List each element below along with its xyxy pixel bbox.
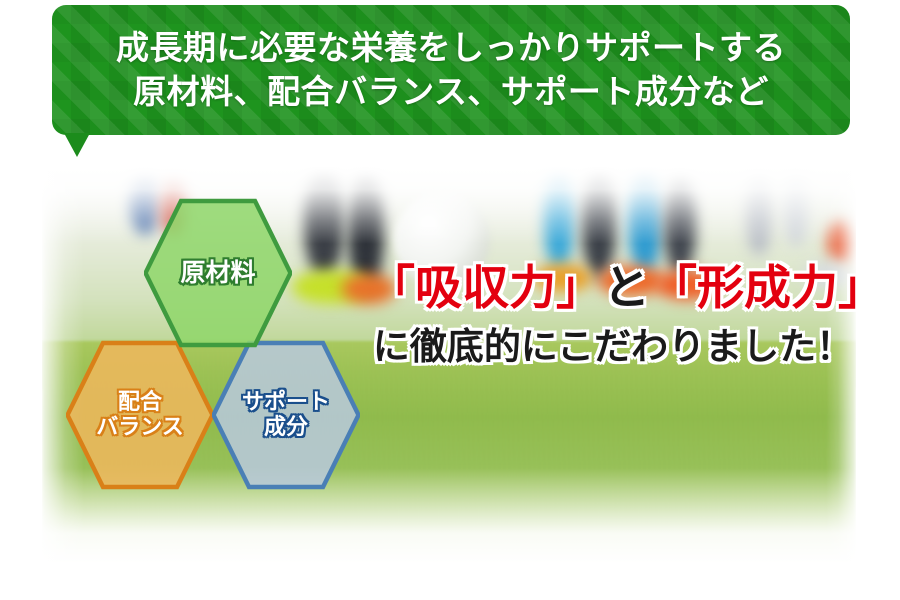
keyword-absorption: 「吸収力」 — [368, 261, 603, 314]
headline-conjunction: と — [603, 261, 650, 314]
headline-banner: 成長期に必要な栄養をしっかりサポートする 原材料、配合バランス、サポート成分など — [52, 5, 850, 135]
banner-line-1: 成長期に必要な栄養をしっかりサポートする — [116, 26, 786, 70]
hexagon-label-support-ingredients: サポート 成分 — [242, 390, 330, 439]
banner-tail-arrow — [64, 133, 90, 157]
promo-banner-page: 成長期に必要な栄養をしっかりサポートする 原材料、配合バランス、サポート成分など — [0, 0, 900, 600]
main-headline: 「吸収力」と「形成力」 に徹底的にこだわりました！ — [368, 262, 858, 368]
hexagon-raw-materials[interactable]: 原材料 — [144, 198, 292, 348]
banner-line-2: 原材料、配合バランス、サポート成分など — [133, 70, 769, 114]
keyword-formation: 「形成力」 — [650, 261, 885, 314]
hexagon-label-raw-materials: 原材料 — [180, 259, 255, 287]
hexagon-support-ingredients[interactable]: サポート 成分 — [212, 340, 360, 490]
hexagon-blend-balance[interactable]: 配合 バランス — [66, 340, 214, 490]
hexagon-label-blend-balance: 配合 バランス — [96, 390, 184, 439]
headline-row-1: 「吸収力」と「形成力」 — [368, 262, 858, 314]
headline-row-2: に徹底的にこだわりました！ — [368, 326, 858, 369]
